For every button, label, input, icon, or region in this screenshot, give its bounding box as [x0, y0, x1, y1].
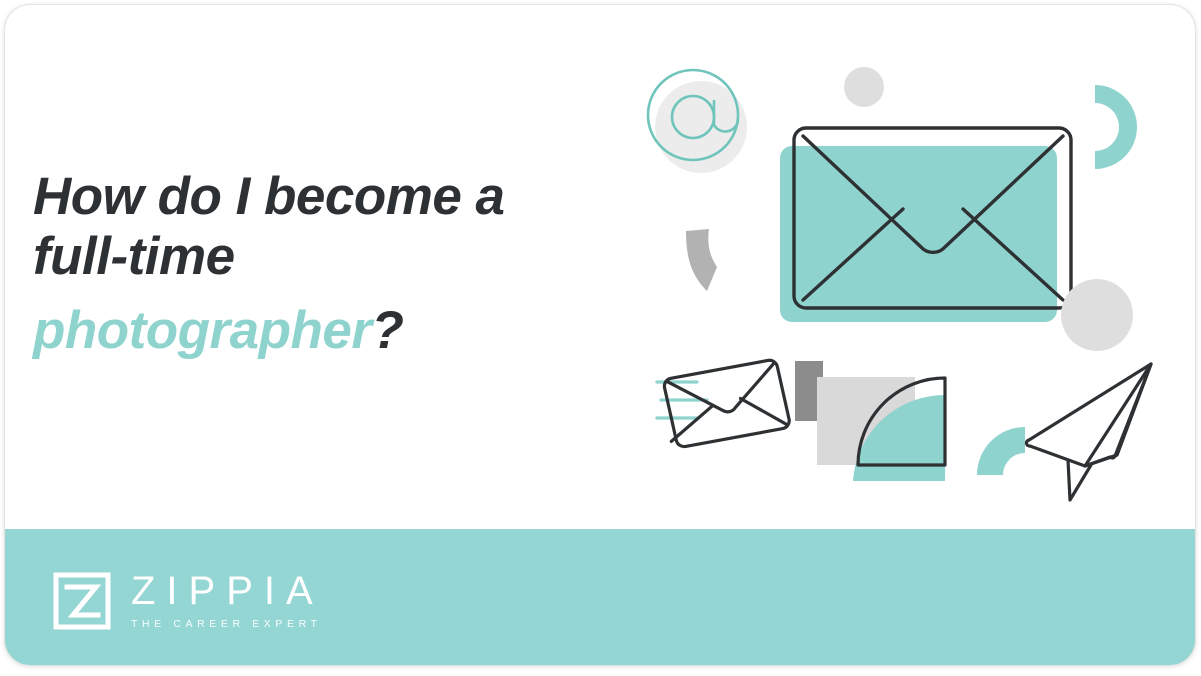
logo-text-block: ZIPPIA THE CAREER EXPERT: [131, 571, 324, 630]
teal-elbow-arc: [977, 427, 1025, 475]
paper-plane-icon: [1026, 364, 1151, 500]
gray-leaf-wedge: [686, 229, 717, 291]
zippia-logo[interactable]: ZIPPIA THE CAREER EXPERT: [53, 571, 324, 630]
logo-tagline: THE CAREER EXPERT: [131, 618, 324, 630]
zippia-z-mark-icon: [53, 572, 111, 630]
gray-circle-large: [1061, 279, 1133, 351]
screenshot-stage: How do I become a full-time photographer…: [0, 0, 1201, 676]
headline-line-2: full-time: [33, 227, 235, 286]
page-title: How do I become a full-time photographer…: [33, 167, 593, 361]
promo-card: How do I become a full-time photographer…: [4, 4, 1196, 666]
logo-wordmark: ZIPPIA: [131, 571, 324, 611]
teal-crescent-arc: [1095, 85, 1137, 169]
large-envelope-shadow: [780, 146, 1057, 322]
headline-line-1: How do I become a: [33, 167, 505, 226]
headline-question-mark: ?: [371, 301, 403, 360]
gray-circle-small: [844, 67, 884, 107]
headline-line-3: photographer?: [33, 301, 593, 361]
email-illustration: [625, 29, 1196, 509]
headline-accent-word: photographer: [33, 301, 371, 360]
small-envelope-icon: [663, 359, 790, 447]
